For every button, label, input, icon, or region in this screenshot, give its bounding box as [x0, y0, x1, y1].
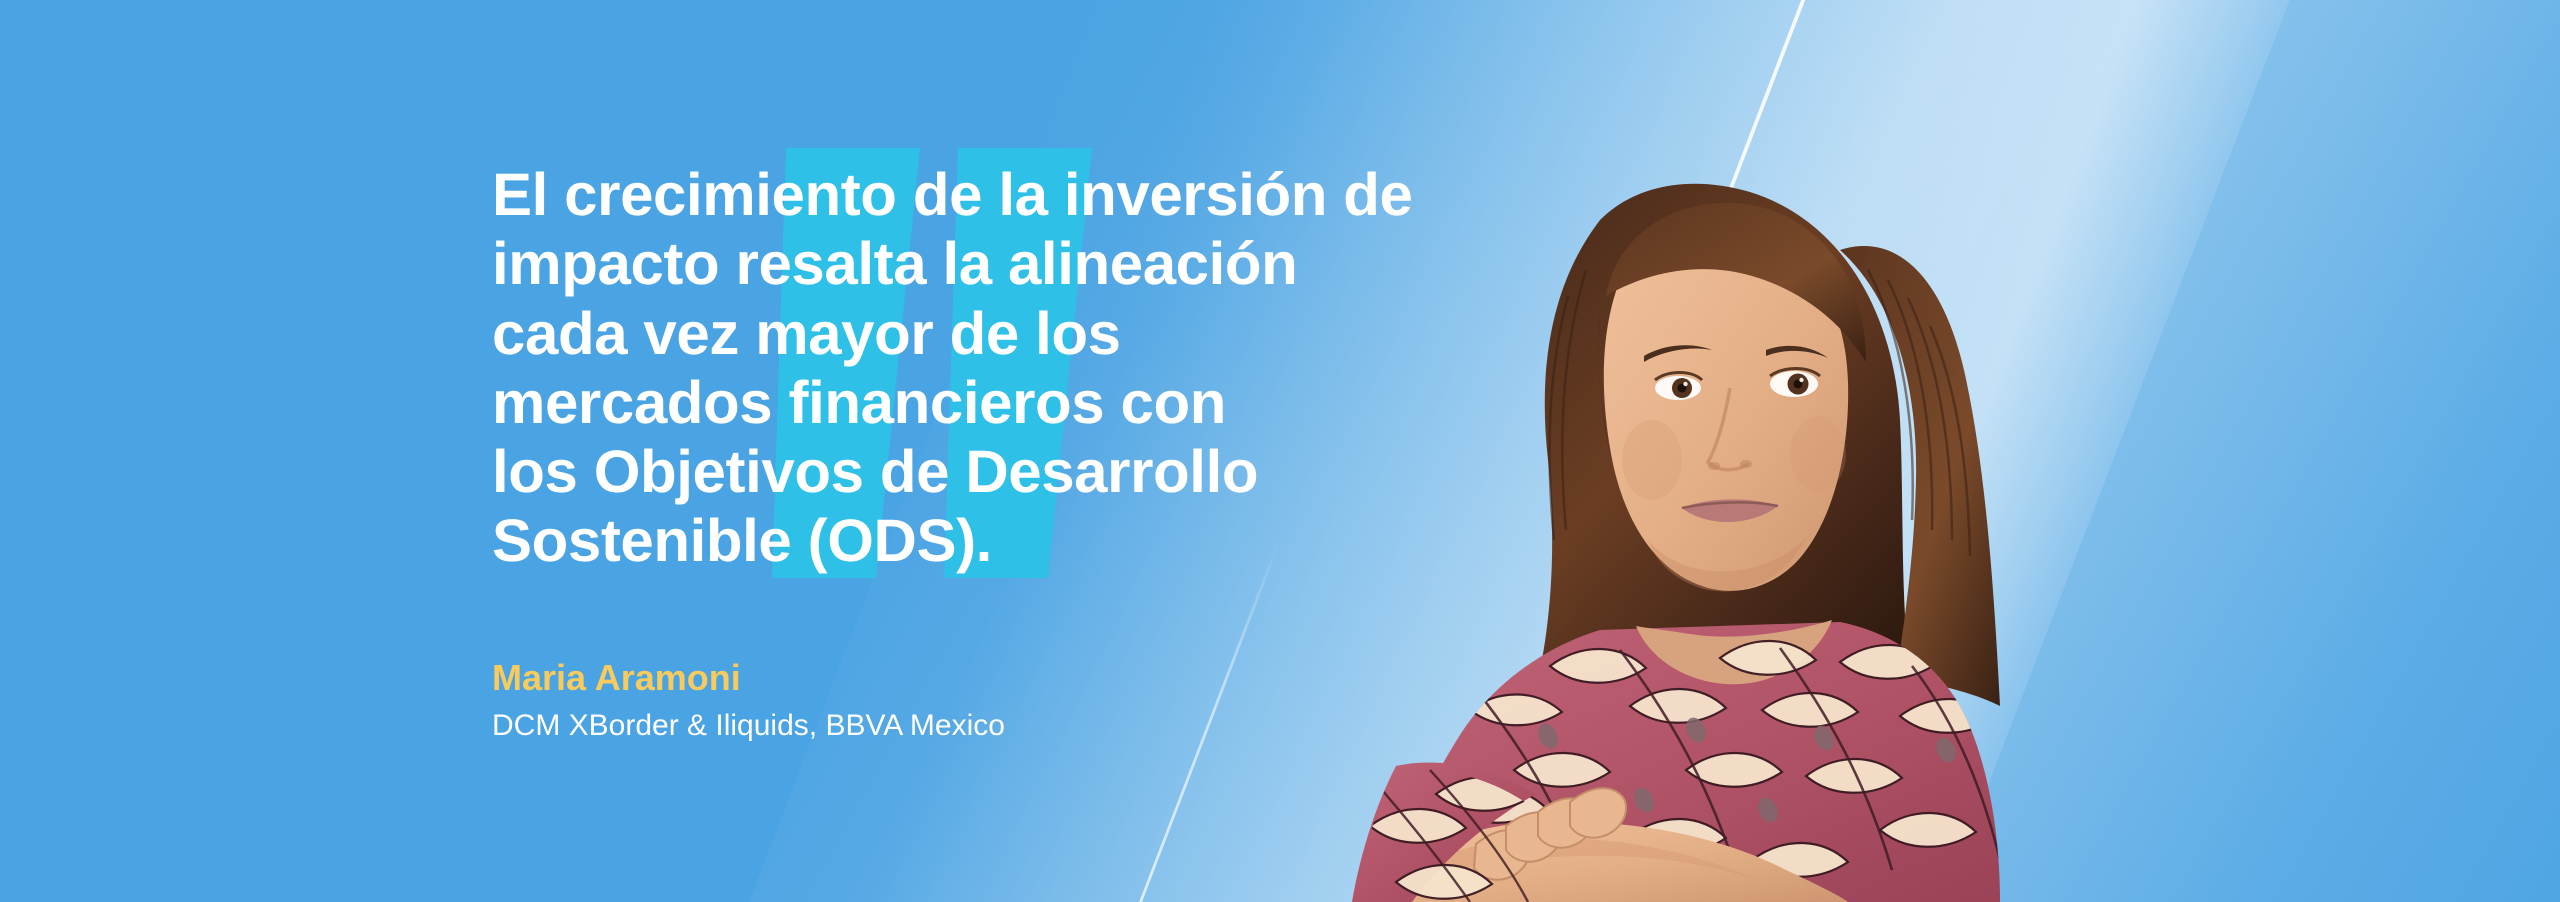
- attribution-block: Maria Aramoni DCM XBorder & Iliquids, BB…: [492, 655, 1392, 747]
- quote-banner: El crecimiento de la inversión de impact…: [0, 0, 2560, 902]
- author-role: DCM XBorder & Iliquids, BBVA Mexico: [492, 706, 1392, 747]
- quote-block: El crecimiento de la inversión de impact…: [492, 160, 1502, 576]
- author-name: Maria Aramoni: [492, 655, 1392, 700]
- quote-text: El crecimiento de la inversión de impact…: [492, 160, 1502, 576]
